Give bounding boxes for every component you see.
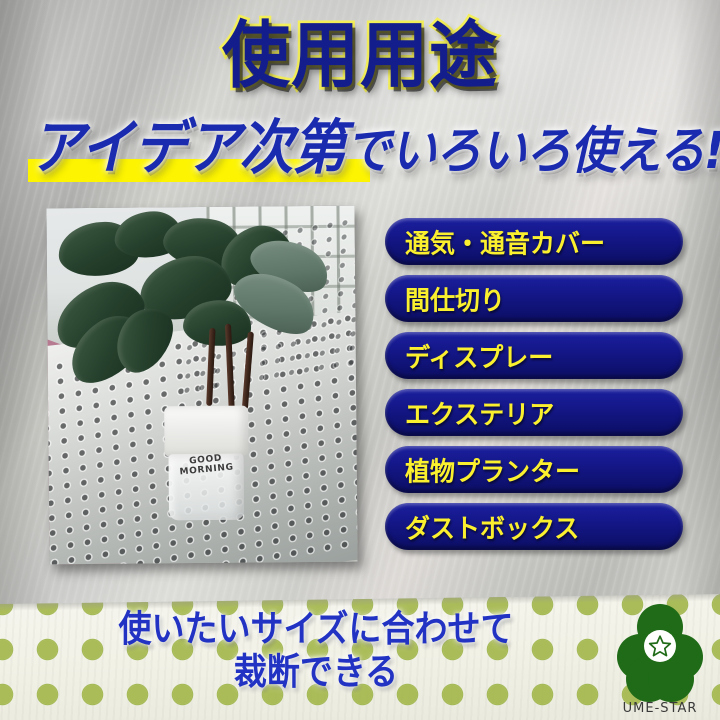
subtitle-rest-text: でいろいろ使える! [345, 121, 720, 180]
feature-label: 間仕切り [385, 280, 505, 317]
subheadline-area: アイデア次第でいろいろ使える! [0, 112, 720, 188]
brand-logo: UME-STAR [608, 602, 712, 716]
star-icon [648, 634, 672, 658]
product-photo: GOOD MORNING [46, 206, 357, 565]
photo-vase-collar [164, 406, 248, 457]
headline-area: 使用用途 [0, 22, 720, 91]
feature-list: 通気・通音カバー 間仕切り ディスプレー エクステリア 植物プランター ダストボ… [385, 218, 683, 560]
banner-line-1: 使いたいサイズに合わせて [118, 607, 513, 650]
feature-pill-4[interactable]: エクステリア [385, 389, 683, 436]
subtitle-highlighted-text: アイデア次第 [30, 113, 345, 182]
feature-label: 植物プランター [385, 451, 580, 488]
page-title: 使用用途 [222, 20, 498, 94]
page-subtitle: アイデア次第でいろいろ使える! [30, 112, 706, 186]
feature-label: ダストボックス [385, 508, 579, 545]
bottom-banner: 使いたいサイズに合わせて 裁断できる UME-STAR [0, 594, 720, 720]
feature-pill-6[interactable]: ダストボックス [385, 503, 683, 550]
photo-vase: GOOD MORNING [161, 406, 251, 521]
feature-pill-2[interactable]: 間仕切り [385, 275, 683, 322]
brand-name: UME-STAR [608, 701, 712, 716]
flower-icon [617, 604, 703, 690]
ad-poster: 使用用途 アイデア次第でいろいろ使える! GOOD MOR [0, 0, 720, 720]
feature-pill-1[interactable]: 通気・通音カバー [385, 218, 683, 265]
feature-label: ディスプレー [385, 337, 553, 374]
flower-petal [648, 656, 694, 702]
feature-pill-5[interactable]: 植物プランター [385, 446, 683, 493]
banner-line-2: 裁断できる [0, 651, 632, 694]
feature-label: エクステリア [385, 394, 554, 431]
feature-pill-3[interactable]: ディスプレー [385, 332, 683, 379]
feature-label: 通気・通音カバー [385, 223, 605, 260]
